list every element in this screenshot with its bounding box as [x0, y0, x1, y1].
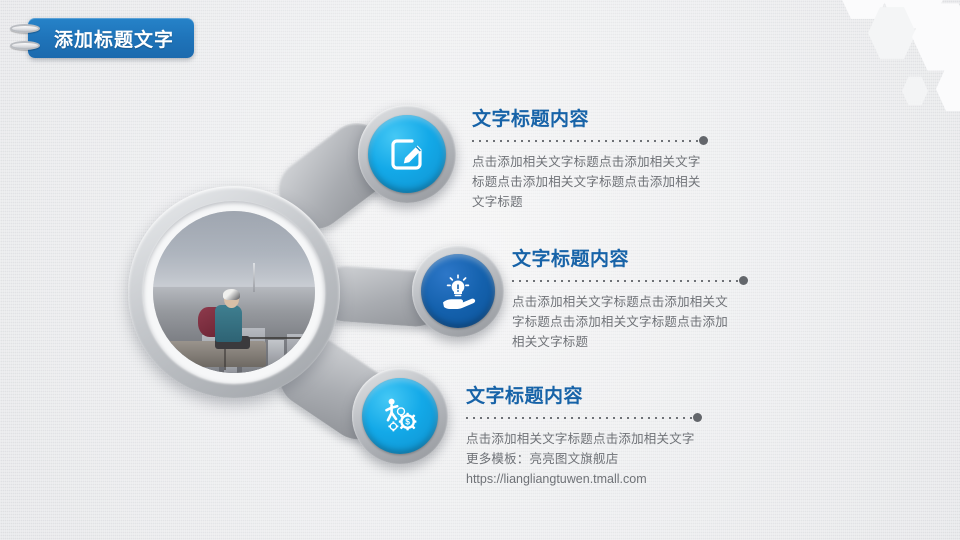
body-line: 相关文字标题 [512, 332, 812, 352]
node-1[interactable] [358, 105, 456, 203]
node-3[interactable]: $ [352, 368, 448, 464]
body-line: 标题点击添加相关文字标题点击添加相关 [472, 172, 772, 192]
hexagon-shape [902, 76, 928, 106]
text-block-2-title: 文字标题内容 [512, 248, 812, 272]
hexagon-shape [936, 66, 960, 112]
body-line: 点击添加相关文字标题点击添加相关文 [512, 292, 812, 312]
text-block-1: 文字标题内容 点击添加相关文字标题点击添加相关文字 标题点击添加相关文字标题点击… [472, 108, 772, 213]
body-line: 点击添加相关文字标题点击添加相关文字 [466, 429, 766, 449]
text-block-1-title: 文字标题内容 [472, 108, 772, 132]
body-line: 点击添加相关文字标题点击添加相关文字 [472, 152, 772, 172]
text-block-2-body: 点击添加相关文字标题点击添加相关文 字标题点击添加相关文字标题点击添加 相关文字… [512, 292, 812, 353]
text-block-3-body: 点击添加相关文字标题点击添加相关文字 更多模板：亮亮图文旗舰店 https://… [466, 429, 766, 490]
text-block-3: 文字标题内容 点击添加相关文字标题点击添加相关文字 更多模板：亮亮图文旗舰店 h… [466, 385, 766, 490]
dotted-line [466, 417, 694, 419]
text-block-1-body: 点击添加相关文字标题点击添加相关文字 标题点击添加相关文字标题点击添加相关 文字… [472, 152, 772, 213]
node-1-disc[interactable] [368, 115, 446, 193]
photo-frame [128, 186, 340, 398]
slide-title-block: 添加标题文字 [10, 16, 194, 60]
hexagon-decoration [836, 0, 960, 118]
page-title: 添加标题文字 [54, 25, 174, 52]
dotted-line [512, 280, 740, 282]
binder-ring [10, 41, 40, 50]
body-line-url[interactable]: https://liangliangtuwen.tmall.com [466, 469, 766, 489]
node-2-disc[interactable] [421, 254, 495, 328]
photo-inner-ring [143, 201, 325, 383]
body-line: 更多模板：亮亮图文旗舰店 [466, 449, 766, 469]
rule-end-dot-icon [699, 136, 708, 145]
text-block-3-rule [466, 413, 710, 422]
person-gears-money-icon: $ [379, 395, 421, 437]
photo-image [153, 211, 315, 373]
node-3-disc[interactable]: $ [362, 378, 438, 454]
text-block-1-rule [472, 136, 716, 145]
body-line: 字标题点击添加相关文字标题点击添加 [512, 312, 812, 332]
dotted-line [472, 140, 700, 142]
title-banner[interactable]: 添加标题文字 [28, 18, 194, 58]
node-2[interactable] [412, 245, 504, 337]
binder-rings-icon [10, 18, 40, 58]
body-line: 文字标题 [472, 192, 772, 212]
text-block-3-title: 文字标题内容 [466, 385, 766, 409]
edit-pencil-square-icon [387, 134, 427, 174]
binder-ring [10, 24, 40, 33]
rule-end-dot-icon [693, 413, 702, 422]
rule-end-dot-icon [739, 276, 748, 285]
svg-text:$: $ [405, 417, 410, 427]
idea-lightbulb-hand-icon [438, 272, 478, 310]
text-block-2-rule [512, 276, 756, 285]
text-block-2: 文字标题内容 点击添加相关文字标题点击添加相关文 字标题点击添加相关文字标题点击… [512, 248, 812, 353]
slide-canvas: 添加标题文字 [0, 0, 960, 540]
photo-haze-overlay [153, 211, 315, 373]
